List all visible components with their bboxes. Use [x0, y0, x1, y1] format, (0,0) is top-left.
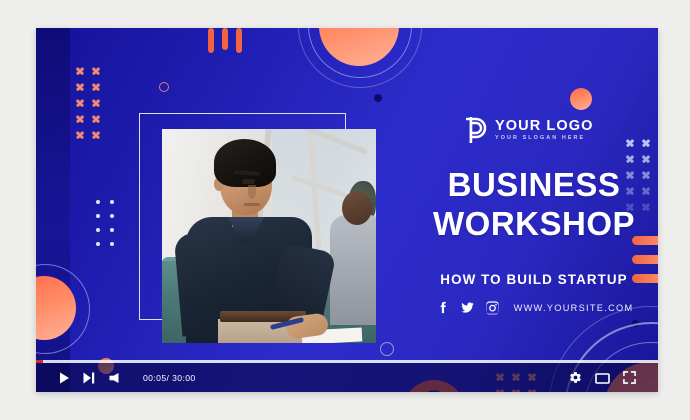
orange-horizontal-bar-2 [632, 255, 658, 264]
facebook-icon[interactable] [435, 300, 450, 315]
orange-dot-top-right [570, 88, 592, 110]
fullscreen-icon[interactable] [623, 371, 636, 384]
small-circle-outline-top-left [159, 82, 169, 92]
page-title: BUSINESS WORKSHOP [419, 166, 649, 244]
brand-slogan: YOUR SLOGAN HERE [495, 136, 594, 141]
social-row: WWW.YOURSITE.COM [419, 300, 649, 315]
video-thumbnail-card[interactable]: YOUR LOGO YOUR SLOGAN HERE BUSINESS WORK… [36, 28, 658, 392]
page-canvas: YOUR LOGO YOUR SLOGAN HERE BUSINESS WORK… [0, 0, 690, 420]
subtitle: HOW TO BUILD STARTUP [419, 272, 649, 287]
hero-photo [162, 129, 376, 343]
title-line-2: WORKSHOP [419, 205, 649, 244]
volume-icon[interactable] [108, 372, 120, 384]
orange-vertical-bar-2 [222, 28, 228, 50]
navy-dot-top [374, 94, 382, 102]
player-controls-left: 00:05/ 30:00 [36, 372, 196, 384]
player-controls: 00:05/ 30:00 [36, 363, 658, 392]
brand-name: YOUR LOGO [495, 119, 594, 134]
circle-outline-mid [380, 342, 394, 356]
time-display: 00:05/ 30:00 [143, 373, 196, 383]
title-line-1: BUSINESS [419, 166, 649, 205]
monogram-d-logo-icon [461, 116, 487, 144]
instagram-icon[interactable] [485, 300, 500, 315]
website-url[interactable]: WWW.YOURSITE.COM [514, 303, 634, 313]
play-icon[interactable] [59, 372, 70, 384]
twitter-icon[interactable] [460, 300, 475, 315]
orange-vertical-bar-1 [208, 28, 214, 53]
x-grid-top-left [75, 66, 107, 146]
next-track-icon[interactable] [83, 372, 95, 384]
player-controls-right [569, 371, 658, 384]
brand-logo: YOUR LOGO YOUR SLOGAN HERE [461, 116, 594, 144]
orange-vertical-bar-3 [236, 28, 242, 53]
dot-grid-left [96, 200, 124, 256]
gear-icon[interactable] [569, 371, 582, 384]
miniplayer-icon[interactable] [595, 372, 610, 384]
